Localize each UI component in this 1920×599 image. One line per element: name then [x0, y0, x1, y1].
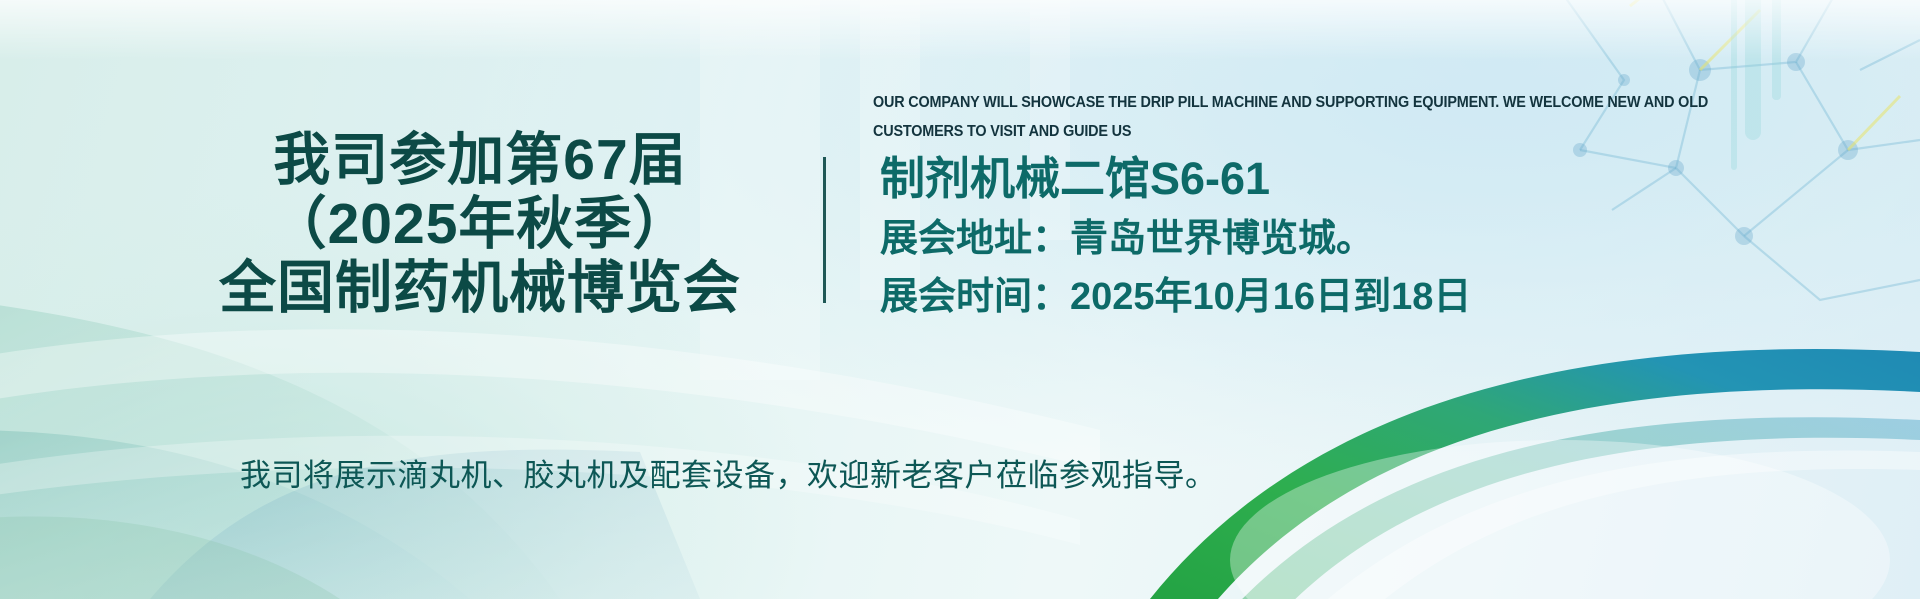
event-title: 我司参加第67届 （2025年秋季） 全国制药机械博览会: [150, 128, 810, 320]
booth-location: 制剂机械二馆S6-61: [880, 148, 1860, 210]
exhibition-banner: 我司参加第67届 （2025年秋季） 全国制药机械博览会 OUR COMPANY…: [0, 0, 1920, 599]
banner-content: 我司参加第67届 （2025年秋季） 全国制药机械博览会 OUR COMPANY…: [0, 0, 1920, 599]
event-title-line-2: （2025年秋季）: [150, 192, 810, 256]
event-title-line-3: 全国制药机械博览会: [150, 256, 810, 320]
venue-address: 展会地址：青岛世界博览城。: [880, 210, 1860, 268]
chinese-tagline: 我司将展示滴丸机、胶丸机及配套设备，欢迎新老客户莅临参观指导。: [240, 450, 1217, 495]
event-datetime: 展会时间：2025年10月16日到18日: [880, 268, 1860, 326]
event-title-line-1: 我司参加第67届: [150, 128, 810, 192]
vertical-divider: [823, 157, 826, 303]
event-details: 制剂机械二馆S6-61 展会地址：青岛世界博览城。 展会时间：2025年10月1…: [880, 148, 1860, 326]
english-description: OUR COMPANY WILL SHOWCASE THE DRIP PILL …: [873, 88, 1729, 146]
